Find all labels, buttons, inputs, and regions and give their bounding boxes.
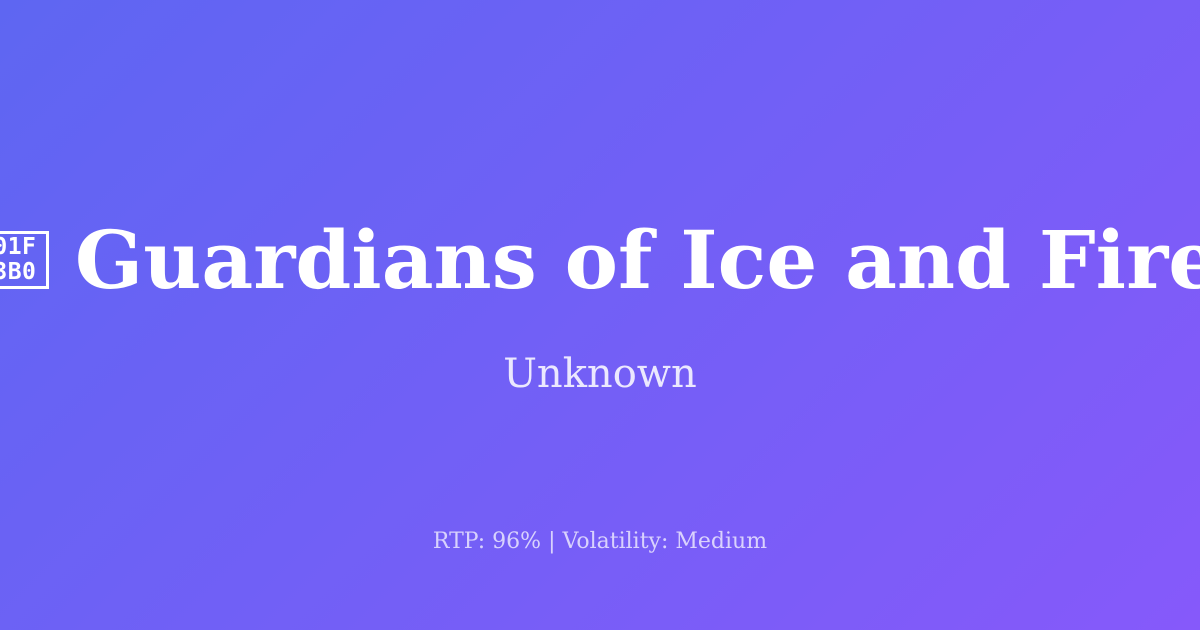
hero-block: 01F 3B0 Guardians of Ice and Fire Unknow… xyxy=(0,218,1200,398)
slot-machine-icon: 01F 3B0 xyxy=(0,231,49,289)
tofu-codepoint-upper: 01F xyxy=(0,235,36,260)
og-card: 01F 3B0 Guardians of Ice and Fire Unknow… xyxy=(0,0,1200,630)
game-meta-line: RTP: 96% | Volatility: Medium xyxy=(433,529,767,554)
tofu-codepoint-lower: 3B0 xyxy=(0,260,36,285)
title-row: 01F 3B0 Guardians of Ice and Fire xyxy=(0,218,1200,302)
page-subtitle: Unknown xyxy=(503,350,697,398)
page-title: Guardians of Ice and Fire xyxy=(75,218,1200,302)
card-footer: RTP: 96% | Volatility: Medium xyxy=(0,528,1200,557)
